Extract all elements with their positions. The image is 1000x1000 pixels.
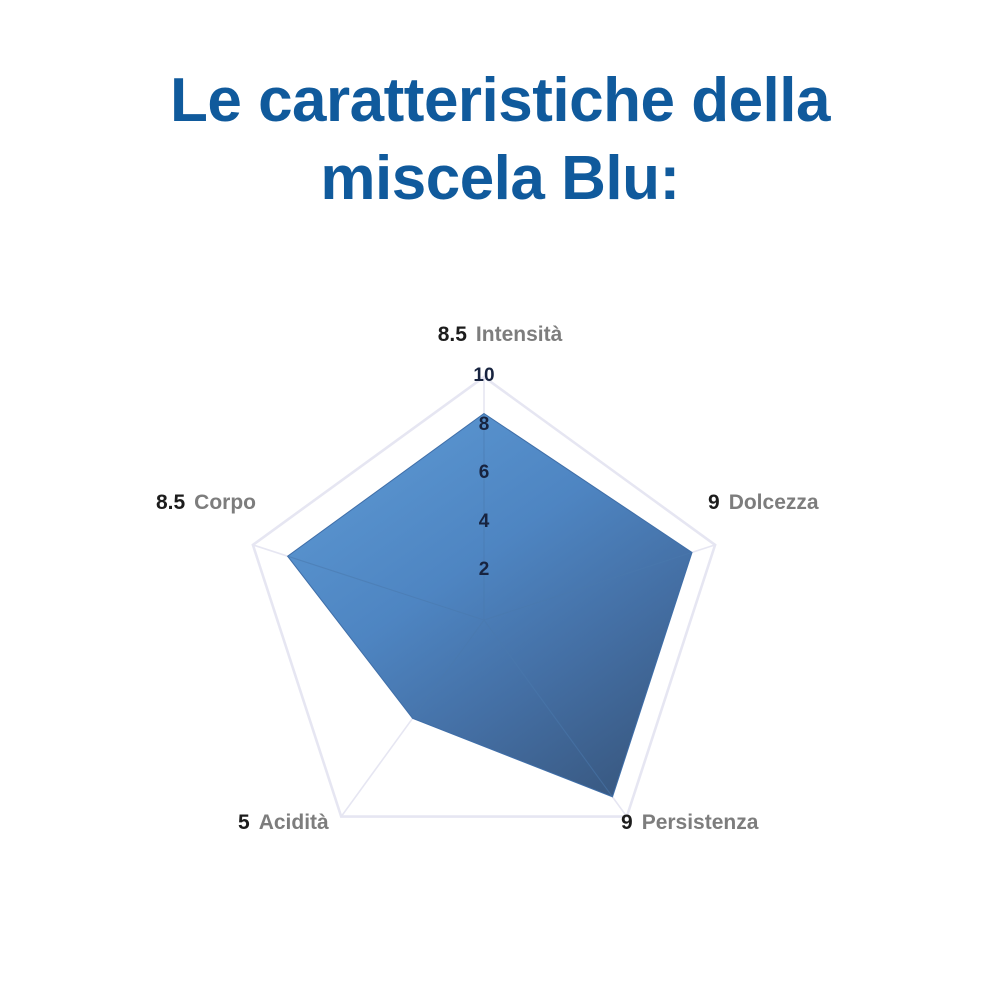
slide-canvas: Le caratteristiche della miscela Blu:	[0, 0, 1000, 1000]
radar-chart: 10 8 6 4 2 8.5Intensità 9Dolcezza 9Persi…	[0, 255, 1000, 875]
axis-label-corpo: 8.5Corpo	[0, 491, 256, 515]
page-title: Le caratteristiche della miscela Blu:	[0, 62, 1000, 218]
page-title-line-2: miscela Blu:	[0, 140, 1000, 218]
radial-tick-10: 10	[464, 365, 504, 387]
axis-value-acidita: 5	[238, 811, 250, 834]
radial-tick-8: 8	[464, 414, 504, 436]
axis-name-intensita: Intensità	[476, 323, 562, 346]
page-title-line-1: Le caratteristiche della	[0, 62, 1000, 140]
axis-name-acidita: Acidità	[259, 811, 329, 834]
radial-tick-6: 6	[464, 462, 504, 484]
axis-value-dolcezza: 9	[708, 491, 720, 514]
axis-label-acidita: 5Acidità	[238, 811, 329, 835]
axis-label-persistenza: 9Persistenza	[621, 811, 758, 835]
axis-name-corpo: Corpo	[194, 491, 256, 514]
radial-tick-4: 4	[464, 511, 504, 533]
radial-tick-2: 2	[464, 559, 504, 581]
axis-label-dolcezza: 9Dolcezza	[708, 491, 819, 515]
axis-label-intensita: 8.5Intensità	[0, 323, 1000, 347]
axis-name-dolcezza: Dolcezza	[729, 491, 819, 514]
axis-value-persistenza: 9	[621, 811, 633, 834]
axis-name-persistenza: Persistenza	[642, 811, 759, 834]
axis-value-intensita: 8.5	[438, 323, 467, 346]
axis-value-corpo: 8.5	[156, 491, 185, 514]
